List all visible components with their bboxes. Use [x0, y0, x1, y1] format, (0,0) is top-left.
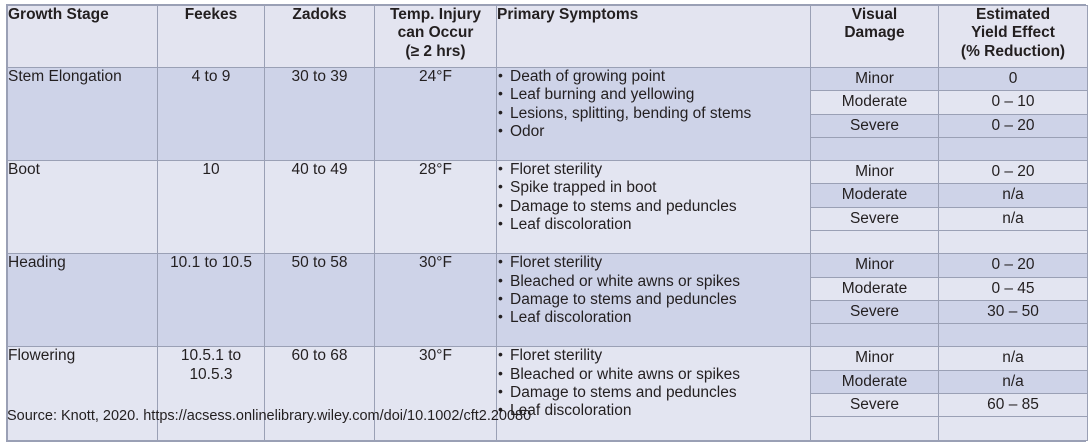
visual-damage-value: Moderate — [811, 277, 938, 300]
symptom-item: Bleached or white awns or spikes — [497, 273, 810, 291]
header-temp-injury-line1: Temp. Injury — [390, 6, 481, 23]
visual-damage-spacer-row — [811, 324, 938, 347]
yield-effect-value: 60 – 85 — [939, 393, 1087, 416]
yield-effect-grid: 0 – 200 – 4530 – 50 — [939, 254, 1087, 346]
header-yield-effect-line1: Estimated — [976, 6, 1050, 23]
symptom-item: Leaf burning and yellowing — [497, 86, 810, 104]
cell-temp-injury: 24°F — [375, 68, 497, 161]
visual-damage-spacer — [811, 137, 938, 160]
visual-damage-value: Severe — [811, 114, 938, 137]
cell-growth-stage: Boot — [8, 161, 158, 254]
yield-effect-value: 0 — [939, 68, 1087, 91]
visual-damage-spacer — [811, 417, 938, 440]
symptom-list: Floret sterilityBleached or white awns o… — [497, 254, 810, 327]
yield-effect-value: 30 – 50 — [939, 300, 1087, 323]
header-temp-injury: Temp. Injury can Occur (≥ 2 hrs) — [375, 6, 497, 68]
symptom-item: Bleached or white awns or spikes — [497, 366, 810, 384]
cell-growth-stage: Heading — [8, 254, 158, 347]
yield-effect-row: 0 — [939, 68, 1087, 91]
yield-effect-spacer — [939, 324, 1087, 347]
visual-damage-row: Severe — [811, 207, 938, 230]
visual-damage-value: Severe — [811, 393, 938, 416]
visual-damage-spacer-row — [811, 230, 938, 253]
table-header: Growth Stage Feekes Zadoks Temp. Injury … — [8, 6, 1088, 68]
cell-feekes: 10.5.1 to 10.5.3 — [158, 347, 265, 440]
yield-effect-value: 0 – 20 — [939, 254, 1087, 277]
yield-effect-grid: 0 – 20n/an/a — [939, 161, 1087, 253]
cell-visual-damage: MinorModerateSevere — [811, 161, 939, 254]
yield-effect-spacer — [939, 137, 1087, 160]
header-visual-damage: Visual Damage — [811, 6, 939, 68]
visual-damage-spacer-row — [811, 137, 938, 160]
yield-effect-row: 0 – 10 — [939, 91, 1087, 114]
visual-damage-row: Minor — [811, 254, 938, 277]
cell-visual-damage: MinorModerateSevere — [811, 347, 939, 440]
symptom-item: Floret sterility — [497, 161, 810, 179]
yield-effect-value: 0 – 10 — [939, 91, 1087, 114]
yield-effect-row: n/a — [939, 207, 1087, 230]
symptom-item: Leaf discoloration — [497, 402, 810, 420]
cell-feekes: 10 — [158, 161, 265, 254]
symptom-list: Floret sterilityBleached or white awns o… — [497, 347, 810, 420]
yield-effect-row: n/a — [939, 370, 1087, 393]
yield-effect-row: n/a — [939, 184, 1087, 207]
symptom-item: Floret sterility — [497, 254, 810, 272]
cell-primary-symptoms: Death of growing pointLeaf burning and y… — [497, 68, 811, 161]
yield-effect-spacer-row — [939, 137, 1087, 160]
yield-effect-value: n/a — [939, 347, 1087, 370]
visual-damage-grid: MinorModerateSevere — [811, 347, 938, 439]
cell-primary-symptoms: Floret sterilityBleached or white awns o… — [497, 254, 811, 347]
symptom-item: Damage to stems and peduncles — [497, 198, 810, 216]
yield-effect-spacer — [939, 417, 1087, 440]
visual-damage-row: Moderate — [811, 91, 938, 114]
yield-effect-value: n/a — [939, 370, 1087, 393]
visual-damage-value: Minor — [811, 347, 938, 370]
header-yield-effect-line3: (% Reduction) — [961, 43, 1065, 60]
visual-damage-spacer-row — [811, 417, 938, 440]
visual-damage-row: Severe — [811, 300, 938, 323]
cell-growth-stage: Stem Elongation — [8, 68, 158, 161]
yield-effect-row: 0 – 45 — [939, 277, 1087, 300]
injury-table: Growth Stage Feekes Zadoks Temp. Injury … — [7, 5, 1088, 441]
visual-damage-value: Severe — [811, 207, 938, 230]
cell-visual-damage: MinorModerateSevere — [811, 68, 939, 161]
symptom-item: Death of growing point — [497, 68, 810, 86]
cell-zadoks: 40 to 49 — [265, 161, 375, 254]
cell-temp-injury: 30°F — [375, 254, 497, 347]
symptom-item: Spike trapped in boot — [497, 179, 810, 197]
header-row: Growth Stage Feekes Zadoks Temp. Injury … — [8, 6, 1088, 68]
visual-damage-row: Severe — [811, 114, 938, 137]
symptom-item: Damage to stems and peduncles — [497, 291, 810, 309]
cell-yield-effect: n/an/a60 – 85 — [939, 347, 1088, 440]
cell-yield-effect: 0 – 20n/an/a — [939, 161, 1088, 254]
cell-zadoks: 50 to 58 — [265, 254, 375, 347]
visual-damage-value: Minor — [811, 68, 938, 91]
header-primary-symptoms: Primary Symptoms — [497, 6, 811, 68]
header-growth-stage: Growth Stage — [8, 6, 158, 68]
visual-damage-grid: MinorModerateSevere — [811, 254, 938, 346]
table-body: Stem Elongation4 to 930 to 3924°FDeath o… — [8, 68, 1088, 441]
cell-primary-symptoms: Floret sterilityBleached or white awns o… — [497, 347, 811, 440]
yield-effect-spacer-row — [939, 230, 1087, 253]
yield-effect-spacer-row — [939, 324, 1087, 347]
table-row: Flowering10.5.1 to 10.5.360 to 6830°FFlo… — [8, 347, 1088, 440]
cell-temp-injury: 30°F — [375, 347, 497, 440]
visual-damage-grid: MinorModerateSevere — [811, 161, 938, 253]
yield-effect-value: 0 – 20 — [939, 114, 1087, 137]
yield-effect-value: n/a — [939, 207, 1087, 230]
cell-visual-damage: MinorModerateSevere — [811, 254, 939, 347]
yield-effect-spacer — [939, 230, 1087, 253]
wheat-freeze-injury-table: Growth Stage Feekes Zadoks Temp. Injury … — [6, 4, 1086, 442]
table-row: Heading10.1 to 10.550 to 5830°FFloret st… — [8, 254, 1088, 347]
yield-effect-row: 0 – 20 — [939, 114, 1087, 137]
symptom-item: Damage to stems and peduncles — [497, 384, 810, 402]
symptom-item: Lesions, splitting, bending of stems — [497, 105, 810, 123]
symptom-item: Odor — [497, 123, 810, 141]
yield-effect-row: 0 – 20 — [939, 254, 1087, 277]
yield-effect-grid: n/an/a60 – 85 — [939, 347, 1087, 439]
visual-damage-grid: MinorModerateSevere — [811, 68, 938, 160]
visual-damage-row: Moderate — [811, 370, 938, 393]
header-temp-injury-line3: (≥ 2 hrs) — [405, 43, 465, 60]
cell-growth-stage: Flowering — [8, 347, 158, 440]
visual-damage-row: Minor — [811, 68, 938, 91]
header-yield-effect-line2: Yield Effect — [971, 24, 1055, 41]
cell-yield-effect: 00 – 100 – 20 — [939, 68, 1088, 161]
table-row: Stem Elongation4 to 930 to 3924°FDeath o… — [8, 68, 1088, 161]
cell-feekes: 4 to 9 — [158, 68, 265, 161]
cell-zadoks: 30 to 39 — [265, 68, 375, 161]
cell-zadoks: 60 to 68 — [265, 347, 375, 440]
cell-feekes: 10.1 to 10.5 — [158, 254, 265, 347]
header-visual-damage-line1: Visual — [852, 6, 897, 23]
header-yield-effect: Estimated Yield Effect (% Reduction) — [939, 6, 1088, 68]
symptom-list: Death of growing pointLeaf burning and y… — [497, 68, 810, 141]
visual-damage-value: Moderate — [811, 184, 938, 207]
cell-yield-effect: 0 – 200 – 4530 – 50 — [939, 254, 1088, 347]
yield-effect-spacer-row — [939, 417, 1087, 440]
header-feekes: Feekes — [158, 6, 265, 68]
table-row: Boot1040 to 4928°FFloret sterilitySpike … — [8, 161, 1088, 254]
symptom-item: Leaf discoloration — [497, 216, 810, 234]
visual-damage-value: Moderate — [811, 91, 938, 114]
visual-damage-spacer — [811, 230, 938, 253]
cell-temp-injury: 28°F — [375, 161, 497, 254]
visual-damage-row: Moderate — [811, 277, 938, 300]
visual-damage-row: Minor — [811, 161, 938, 184]
yield-effect-row: 30 – 50 — [939, 300, 1087, 323]
yield-effect-row: 0 – 20 — [939, 161, 1087, 184]
visual-damage-spacer — [811, 324, 938, 347]
visual-damage-row: Moderate — [811, 184, 938, 207]
source-citation: Source: Knott, 2020. https://acsess.onli… — [7, 408, 531, 424]
visual-damage-value: Minor — [811, 161, 938, 184]
header-visual-damage-line2: Damage — [844, 24, 904, 41]
cell-primary-symptoms: Floret sterilitySpike trapped in bootDam… — [497, 161, 811, 254]
yield-effect-value: n/a — [939, 184, 1087, 207]
header-temp-injury-line2: can Occur — [398, 24, 474, 41]
symptom-list: Floret sterilitySpike trapped in bootDam… — [497, 161, 810, 234]
visual-damage-row: Minor — [811, 347, 938, 370]
symptom-item: Floret sterility — [497, 347, 810, 365]
visual-damage-row: Severe — [811, 393, 938, 416]
yield-effect-row: n/a — [939, 347, 1087, 370]
header-zadoks: Zadoks — [265, 6, 375, 68]
visual-damage-value: Minor — [811, 254, 938, 277]
yield-effect-row: 60 – 85 — [939, 393, 1087, 416]
yield-effect-value: 0 – 45 — [939, 277, 1087, 300]
visual-damage-value: Moderate — [811, 370, 938, 393]
yield-effect-grid: 00 – 100 – 20 — [939, 68, 1087, 160]
figure-container: Growth Stage Feekes Zadoks Temp. Injury … — [0, 0, 1092, 434]
visual-damage-value: Severe — [811, 300, 938, 323]
symptom-item: Leaf discoloration — [497, 309, 810, 327]
yield-effect-value: 0 – 20 — [939, 161, 1087, 184]
